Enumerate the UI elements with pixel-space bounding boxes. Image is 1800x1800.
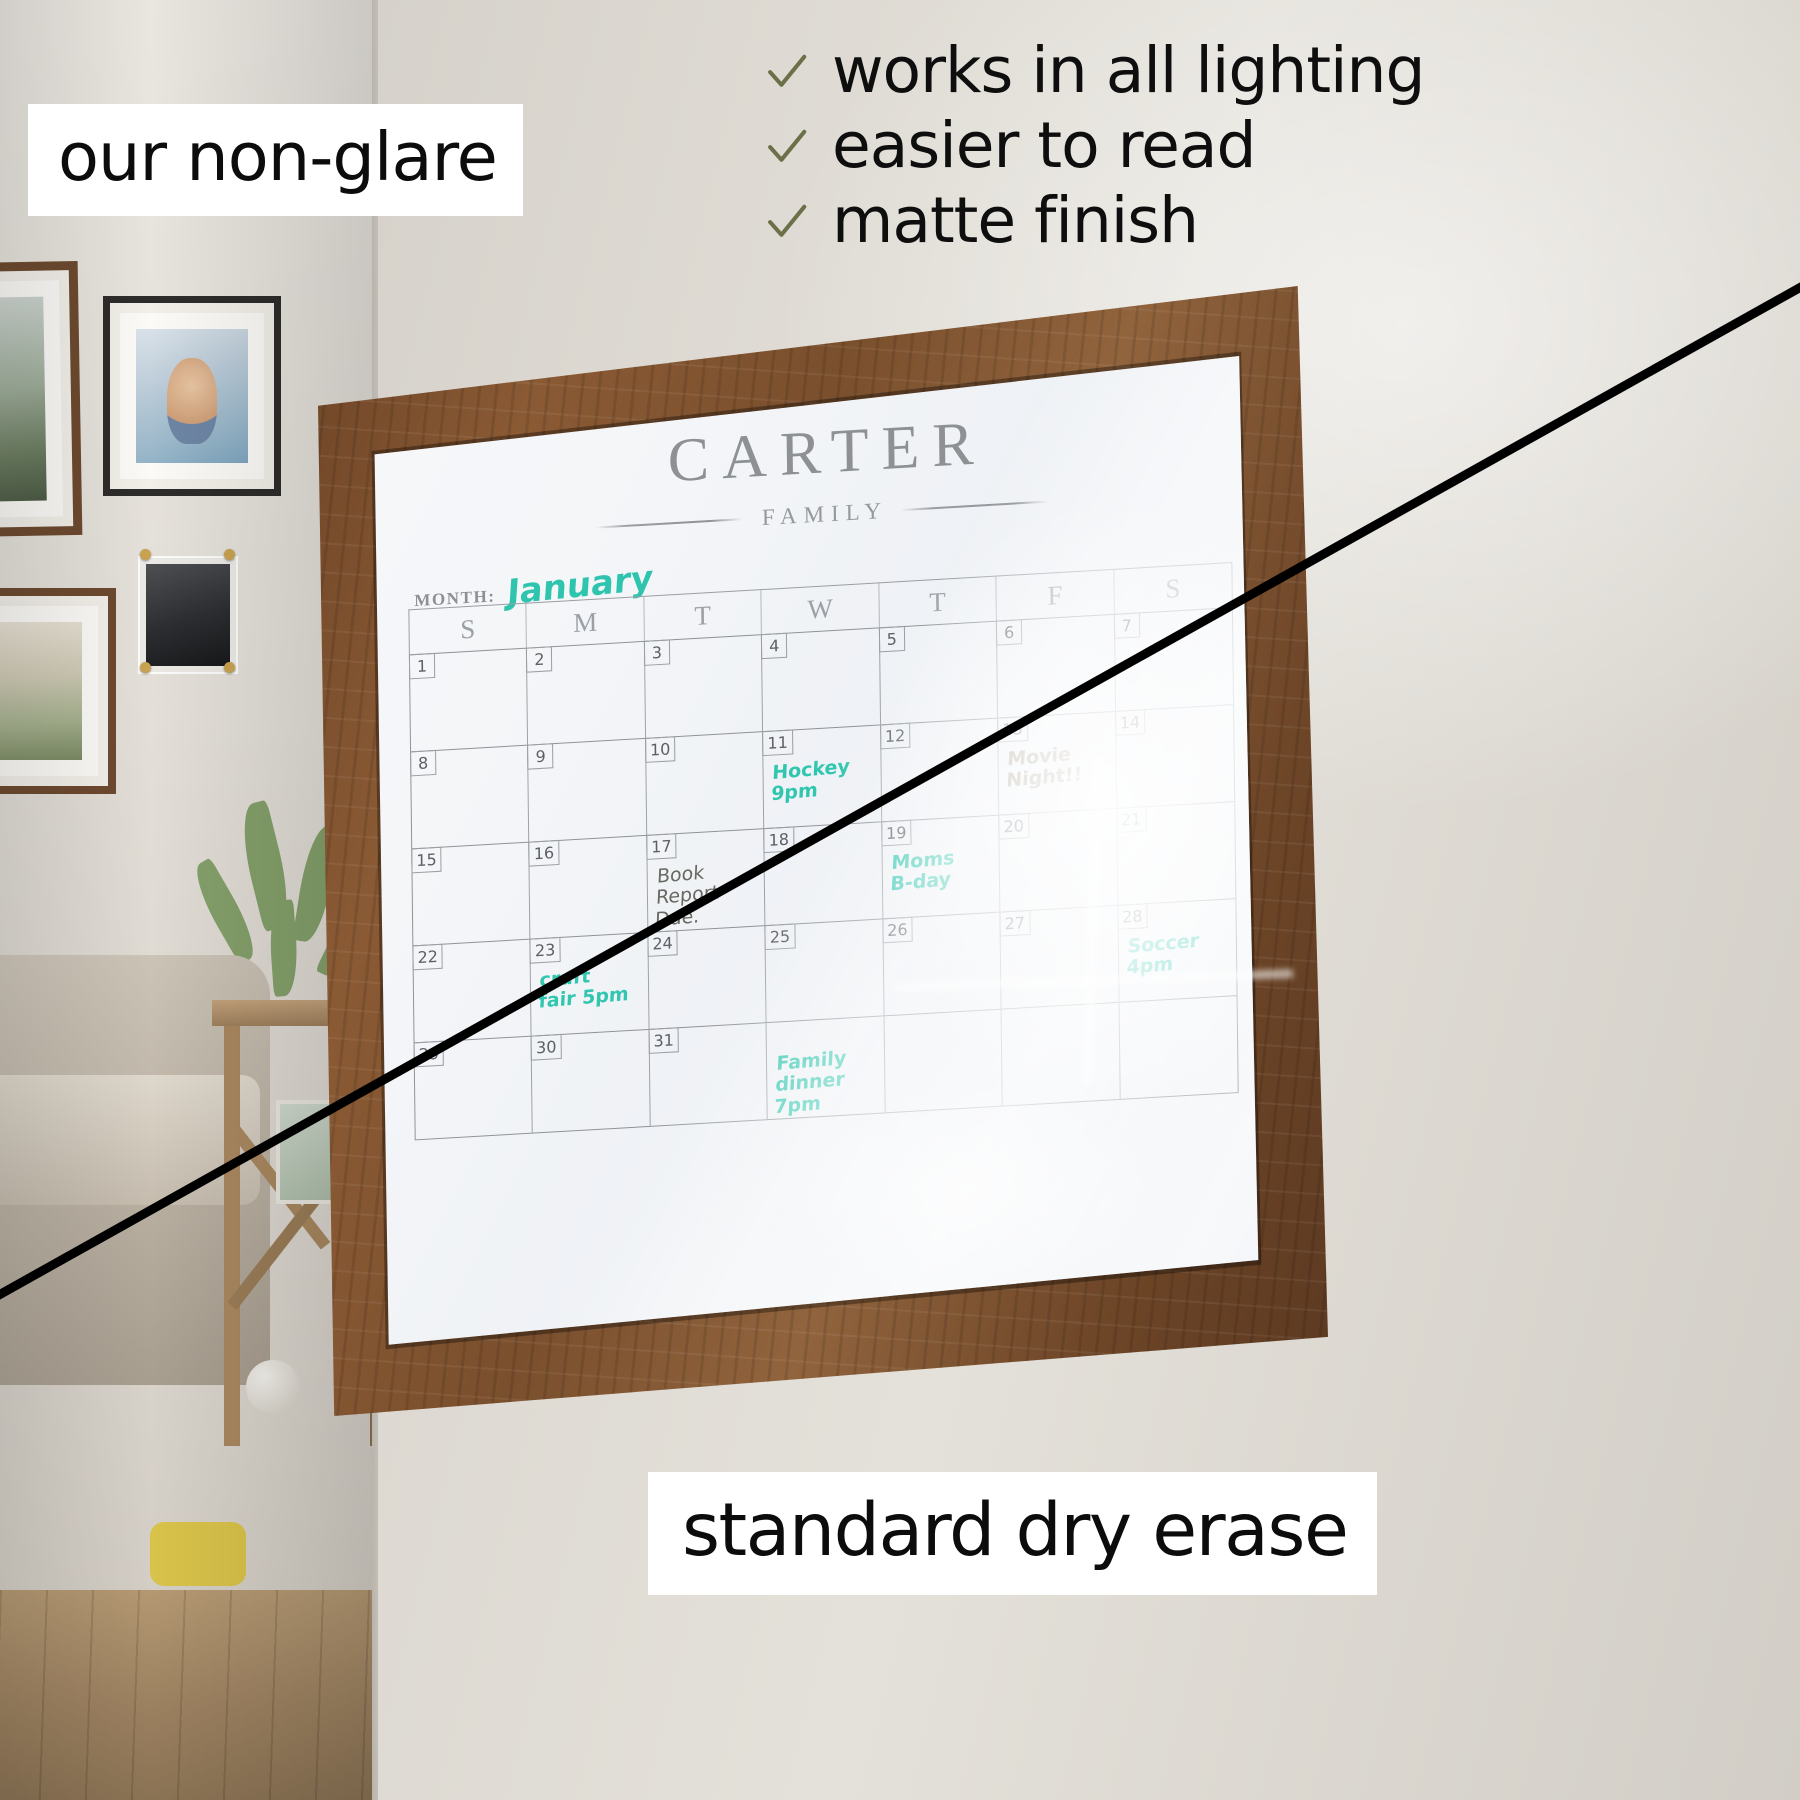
- day-number: 31: [648, 1027, 679, 1054]
- feature-bullet-1: easier to read: [764, 113, 1774, 180]
- calendar-cell[interactable]: Family dinner 7pm: [767, 1016, 886, 1119]
- calendar-cell[interactable]: 2: [527, 642, 646, 745]
- clip-dot-right: [224, 549, 235, 560]
- clip-dot-left: [140, 549, 151, 560]
- day-number: 16: [529, 840, 560, 867]
- calendar-cell[interactable]: 5: [880, 622, 999, 725]
- non-glare-label-text: our non-glare: [58, 118, 497, 196]
- day-number: 6: [996, 619, 1022, 645]
- standard-dry-erase-label: standard dry erase: [648, 1472, 1377, 1595]
- feature-bullet-2: matte finish: [764, 188, 1774, 255]
- day-number: 19: [881, 820, 912, 847]
- divider-line-left: [595, 518, 742, 528]
- floor-object: [150, 1522, 246, 1586]
- wood-floor: [0, 1590, 378, 1800]
- calendar-cell[interactable]: 13Movie Night!!: [998, 712, 1117, 815]
- check-icon: [764, 198, 810, 244]
- day-number: 2: [526, 646, 552, 672]
- sofa: [0, 955, 270, 1385]
- decor-sphere: [246, 1360, 300, 1414]
- day-number: 30: [531, 1034, 562, 1061]
- day-of-week-0: S: [409, 604, 527, 655]
- day-number: 25: [765, 923, 796, 950]
- day-number: 18: [764, 826, 795, 853]
- day-of-week-4: T: [879, 577, 997, 628]
- calendar-event-note[interactable]: Hockey 9pm: [771, 754, 877, 806]
- day-number: 12: [880, 723, 911, 750]
- day-number: 3: [644, 639, 670, 665]
- product-comparison-image: CARTER FAMILY MONTH: January SMTWTFS 123…: [0, 0, 1800, 1800]
- day-of-week-2: T: [644, 590, 762, 641]
- day-number: 13: [997, 716, 1028, 743]
- calendar-cell[interactable]: 10: [646, 732, 765, 835]
- day-number: 7: [1113, 612, 1139, 638]
- clip-dot-left-lower: [140, 662, 151, 673]
- day-number: 10: [645, 736, 676, 763]
- calendar-cell[interactable]: 20: [999, 809, 1118, 912]
- calendar-cell[interactable]: 19Moms B-day: [882, 816, 1001, 919]
- gallery-frame-4: [138, 556, 238, 674]
- non-glare-label: our non-glare: [28, 104, 523, 216]
- calendar-cell[interactable]: 29: [415, 1037, 534, 1140]
- standard-dry-erase-label-text: standard dry erase: [682, 1488, 1347, 1573]
- calendar-weeks: 1234567891011Hockey 9pm1213Movie Night!!…: [409, 607, 1239, 1140]
- calendar-cell[interactable]: 7: [1114, 608, 1233, 711]
- check-icon: [764, 48, 810, 94]
- calendar-cell[interactable]: 15: [412, 843, 531, 946]
- calendar-cell[interactable]: 22: [413, 940, 532, 1043]
- day-number: 5: [879, 626, 905, 652]
- calendar-cell[interactable]: 6: [997, 615, 1116, 718]
- calendar-cell[interactable]: 23craft fair 5pm: [531, 933, 650, 1036]
- day-number: 27: [1000, 910, 1031, 937]
- calendar-content: CARTER FAMILY MONTH: January SMTWTFS 123…: [396, 365, 1254, 1284]
- calendar-cell[interactable]: [1002, 1003, 1121, 1106]
- calendar-cell[interactable]: 3: [645, 635, 764, 738]
- day-number: 9: [527, 743, 553, 769]
- check-icon: [764, 123, 810, 169]
- feature-bullet-text: easier to read: [832, 113, 1256, 180]
- family-subtitle: FAMILY: [755, 498, 888, 532]
- day-number: 15: [411, 847, 442, 874]
- day-number: 22: [412, 944, 443, 971]
- calendar-cell[interactable]: 1: [410, 649, 529, 752]
- day-number: 26: [882, 917, 913, 944]
- calendar-cell[interactable]: 27: [1001, 906, 1120, 1009]
- calendar-event-note[interactable]: Book Report Due.: [654, 858, 761, 931]
- calendar-cell[interactable]: 14: [1116, 705, 1235, 808]
- gallery-frame-1: [0, 261, 82, 537]
- feature-bullet-text: works in all lighting: [832, 38, 1424, 105]
- day-number: 1: [409, 653, 435, 679]
- day-number: 24: [647, 930, 678, 957]
- calendar-cell[interactable]: 28Soccer 4pm: [1118, 899, 1237, 1002]
- gallery-frame-2: [103, 296, 281, 496]
- day-number: 17: [646, 833, 677, 860]
- day-of-week-6: S: [1114, 563, 1232, 614]
- calendar-cell[interactable]: [884, 1010, 1003, 1113]
- clip-dot-right-lower: [224, 662, 235, 673]
- day-number: 8: [410, 750, 436, 776]
- framed-calendar-whiteboard: CARTER FAMILY MONTH: January SMTWTFS 123…: [318, 286, 1328, 1416]
- day-of-week-5: F: [997, 570, 1115, 621]
- whiteboard-surface: CARTER FAMILY MONTH: January SMTWTFS 123…: [318, 286, 1328, 1416]
- calendar-cell[interactable]: 30: [532, 1030, 651, 1133]
- day-number: 21: [1116, 806, 1147, 833]
- calendar-event-note[interactable]: craft fair 5pm: [538, 962, 644, 1014]
- calendar-cell[interactable]: 4: [762, 628, 881, 731]
- calendar-cell[interactable]: 31: [649, 1023, 768, 1126]
- calendar-cell[interactable]: 21: [1117, 802, 1236, 905]
- calendar-event-note[interactable]: Movie Night!!: [1006, 741, 1112, 793]
- calendar-cell[interactable]: 25: [766, 919, 885, 1022]
- calendar-cell[interactable]: 26: [883, 913, 1002, 1016]
- day-number: 11: [762, 729, 793, 756]
- calendar-event-note[interactable]: Moms B-day: [890, 844, 996, 896]
- day-number: 4: [761, 633, 787, 659]
- day-number: 23: [530, 937, 561, 964]
- calendar-event-note[interactable]: Soccer 4pm: [1126, 928, 1233, 980]
- day-number: 14: [1115, 709, 1146, 736]
- calendar-cell[interactable]: 17Book Report Due.: [647, 829, 766, 932]
- gallery-frame-3: [0, 588, 116, 794]
- feature-bullet-text: matte finish: [832, 188, 1198, 255]
- day-of-week-3: W: [762, 583, 880, 634]
- calendar-cell[interactable]: 18: [765, 822, 884, 925]
- calendar-cell[interactable]: 8: [411, 746, 530, 849]
- divider-line-right: [900, 501, 1047, 511]
- calendar-cell[interactable]: 12: [881, 719, 1000, 822]
- calendar-event-note[interactable]: Family dinner 7pm: [774, 1045, 881, 1118]
- day-number: 20: [998, 813, 1029, 840]
- calendar-cell[interactable]: 24: [648, 926, 767, 1029]
- calendar-cell[interactable]: [1119, 996, 1238, 1099]
- feature-bullet-list: works in all lightingeasier to readmatte…: [764, 38, 1774, 262]
- day-of-week-1: M: [527, 597, 645, 648]
- feature-bullet-0: works in all lighting: [764, 38, 1774, 105]
- calendar-cell[interactable]: 9: [528, 739, 647, 842]
- calendar-cell[interactable]: 16: [530, 836, 649, 939]
- day-number: 28: [1117, 903, 1148, 930]
- day-number: 29: [414, 1041, 445, 1068]
- calendar-cell[interactable]: 11Hockey 9pm: [763, 725, 882, 828]
- calendar-grid: SMTWTFS 1234567891011Hockey 9pm1213Movie…: [408, 562, 1238, 1140]
